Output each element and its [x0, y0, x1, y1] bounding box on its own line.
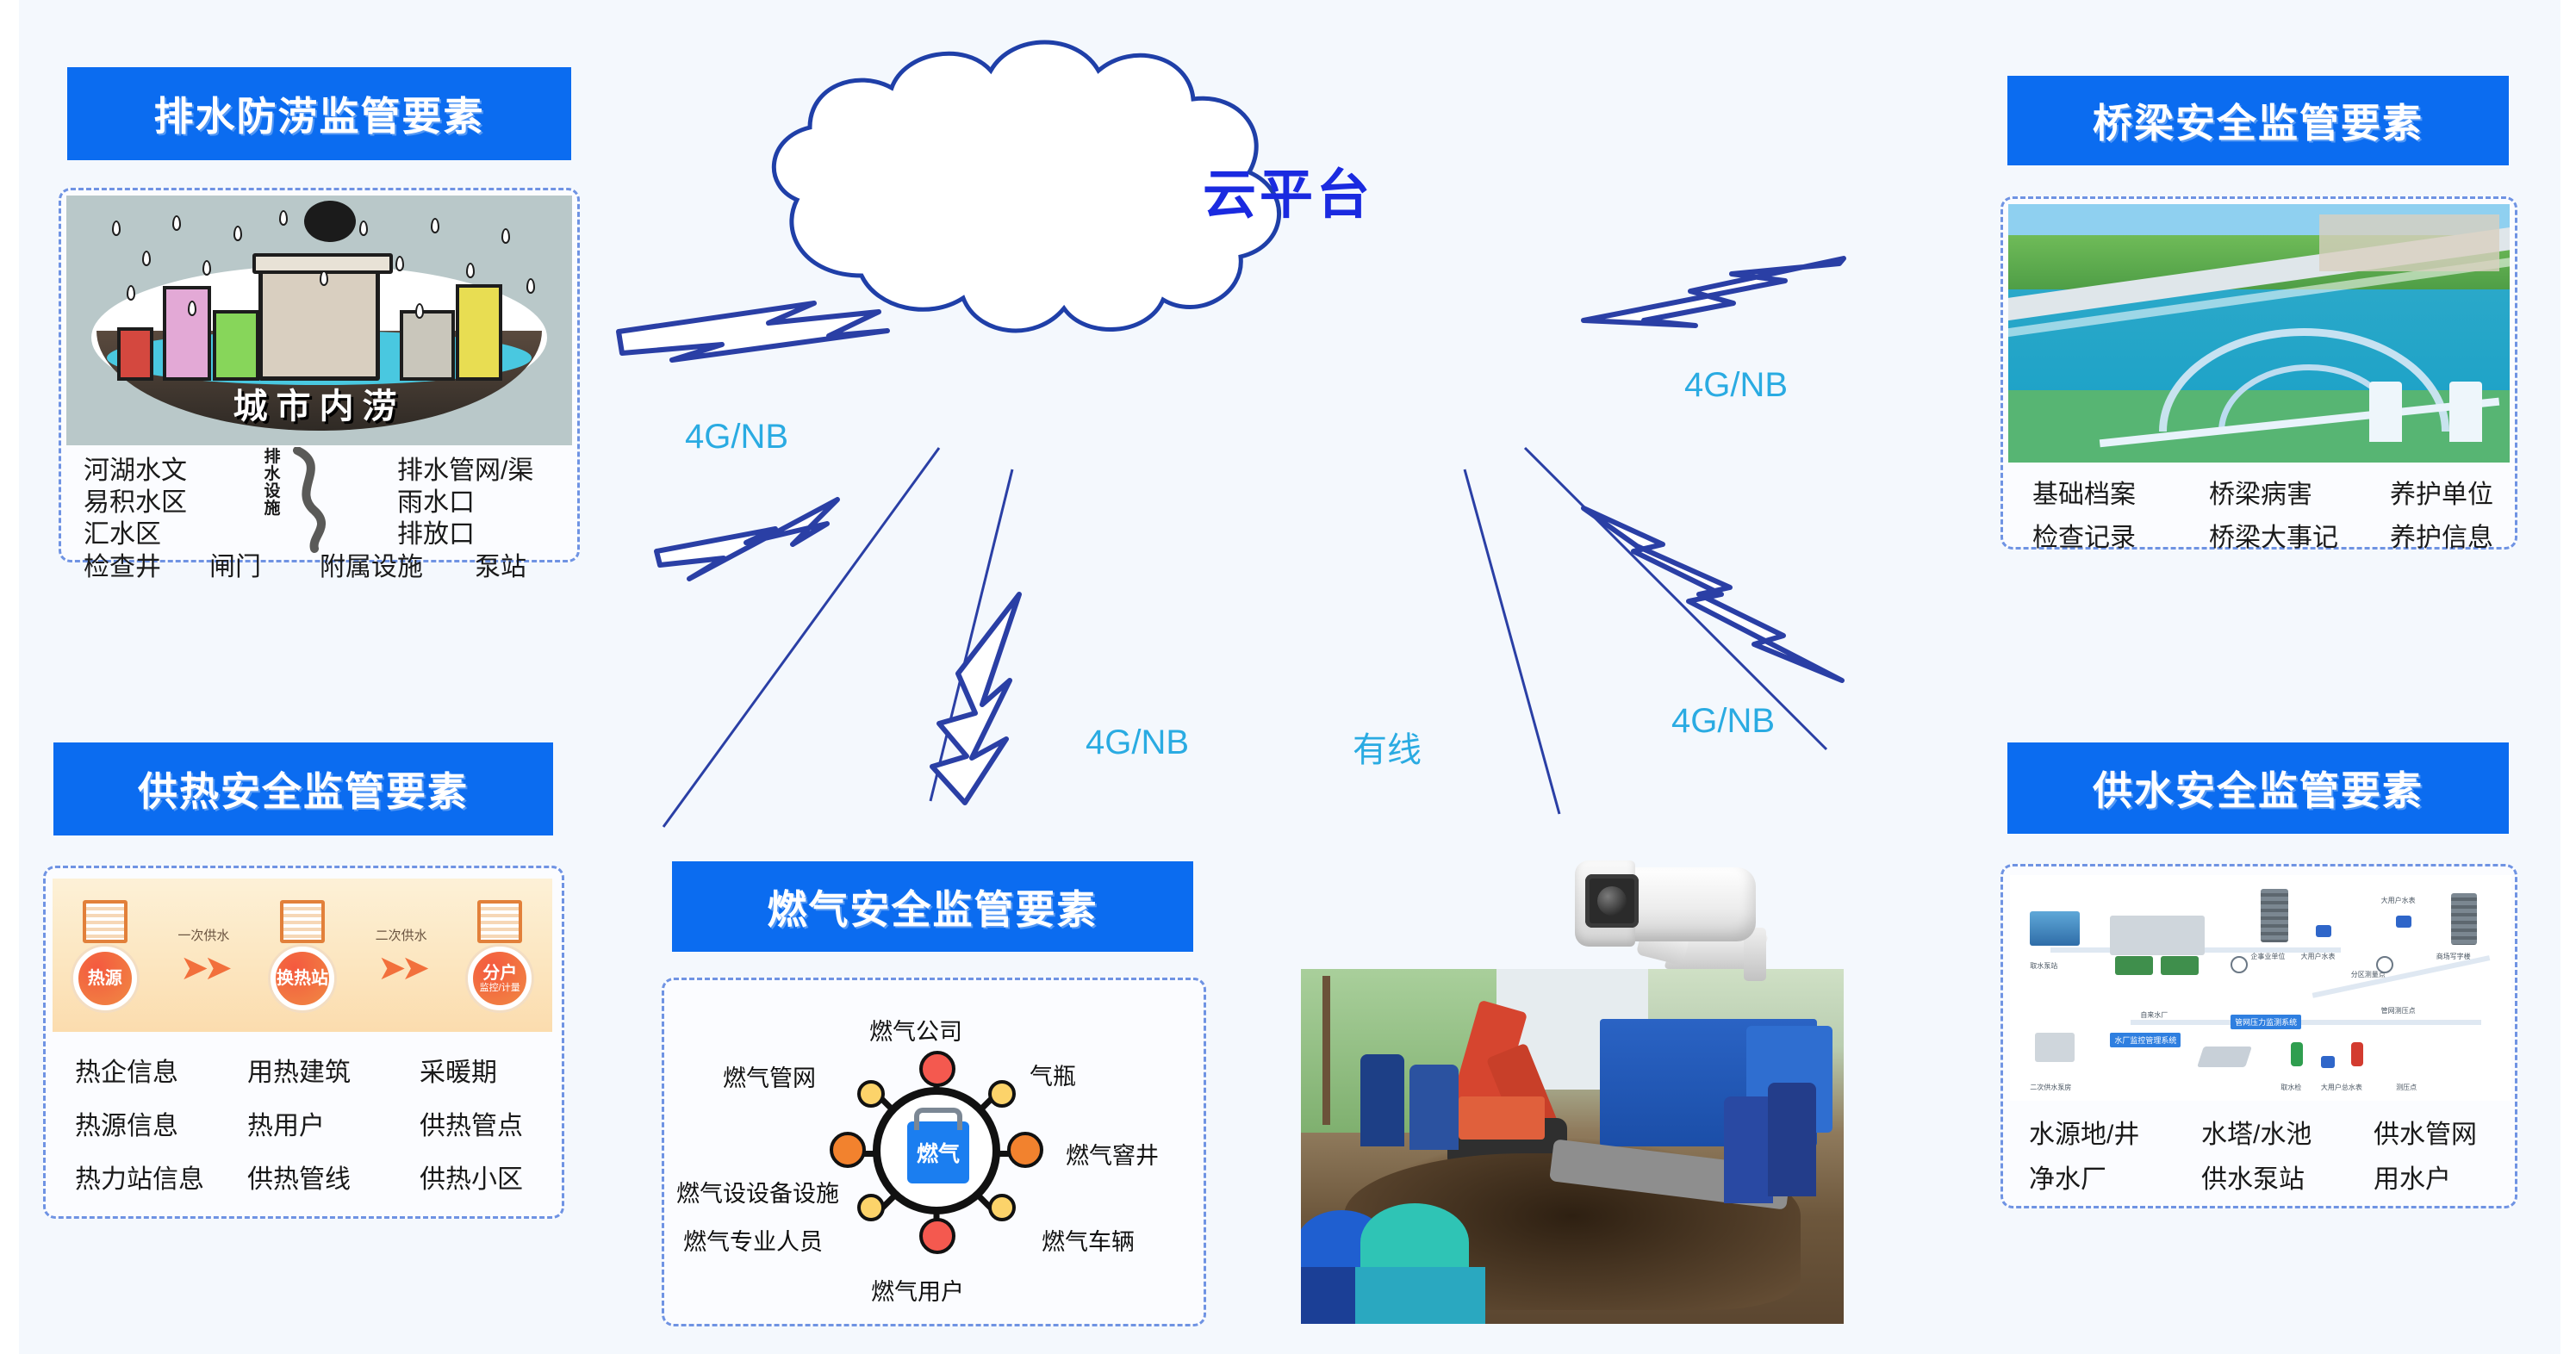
heat-node-station: 换热站	[271, 900, 334, 1010]
household-circle: 分户 监控/计量	[468, 947, 532, 1010]
meter-blue	[2321, 1056, 2335, 1068]
panel-bridge: 基础档案 桥梁病害 养护单位 检查记录 桥梁大事记 养护信息	[2000, 196, 2517, 550]
enterprise-building-icon	[2261, 889, 2288, 942]
sedimentation-basin-1	[2115, 956, 2153, 975]
heating-term-2-0: 热力站信息	[75, 1158, 247, 1211]
drainage-title-text: 排水防涝监管要素	[154, 85, 485, 142]
worker-right-1	[1724, 1096, 1773, 1203]
heat-arrow-primary: 一次供水 ➤➤	[177, 926, 229, 985]
sedimentation-basin-2	[2161, 956, 2199, 975]
storm-swirl-icon	[304, 201, 356, 242]
label-secondary-pumphouse: 二次供水泵房	[2030, 1083, 2071, 1092]
drainage-term-3: 雨水口	[397, 481, 411, 512]
gas-node-user	[919, 1218, 955, 1254]
water-supply-schematic: 取水泵站 自来水厂 水厂监控管理系统 管网压力监测系统 企事业单位 大用户水表 …	[2010, 875, 2511, 1101]
drainage-term-4: 汇水区	[84, 512, 256, 544]
link-label-camera: 有线	[1353, 722, 1422, 772]
water-term-0-2: 供水管网	[2374, 1113, 2498, 1158]
intake-pump-station-icon	[2030, 911, 2080, 946]
heat-source-label: 热源	[88, 969, 122, 988]
water-title-text: 供水安全监管要素	[2093, 760, 2424, 817]
panel-water: 取水泵站 自来水厂 水厂监控管理系统 管网压力监测系统 企事业单位 大用户水表 …	[2000, 864, 2517, 1208]
water-term-1-0: 净水厂	[2029, 1158, 2201, 1202]
gas-node-equipment	[830, 1132, 866, 1168]
panel-heating: 热源 一次供水 ➤➤ 换热站 二次供水 ➤➤ 分户	[43, 866, 564, 1219]
link-label-gas: 4G/NB	[1086, 724, 1189, 762]
heat-station-label: 换热站	[277, 969, 328, 988]
link-label-bridge: 4G/NB	[1684, 366, 1788, 405]
gas-node-cylinder	[988, 1080, 1016, 1108]
heating-term-1-2: 供热管点	[420, 1104, 544, 1158]
water-term-0-0: 水源地/井	[2029, 1113, 2201, 1158]
bridge-term-1-0: 检查记录	[2032, 516, 2209, 559]
bridge-term-1-2: 养护信息	[2390, 516, 2502, 559]
bridge-term-1-1: 桥梁大事记	[2209, 516, 2390, 559]
pressure-gauge-2	[2376, 956, 2393, 973]
diagram-canvas: 云平台 4G/NB 4G/NB 4G/NB 有线 4G/NB 排水防涝监管要素	[0, 0, 2576, 1354]
heat-station-building-icon	[280, 900, 325, 943]
water-term-1-2: 用水户	[2374, 1158, 2498, 1202]
excavator-body	[1459, 1096, 1546, 1139]
building-gray	[400, 310, 455, 381]
drainage-image-caption: 城市内涝	[66, 378, 572, 428]
heat-station-circle: 换热站	[271, 947, 334, 1010]
water-terms-grid: 水源地/井 水塔/水池 供水管网 净水厂 供水泵站 用水户	[2029, 1113, 2498, 1202]
heat-node-source: 热源	[73, 900, 137, 1010]
gas-label-company: 燃气公司	[869, 1013, 962, 1047]
worker-right-2	[1768, 1083, 1817, 1196]
gas-label-manhole: 燃气窨井	[1066, 1137, 1159, 1171]
drainage-term-1: 排水管网/渠	[397, 449, 411, 481]
label-enterprise: 企事业单位	[2250, 952, 2285, 961]
heat-node-household: 分户 监控/计量	[468, 900, 532, 1010]
pressure-gauge-1	[2231, 956, 2248, 973]
gas-node-pipeline	[857, 1080, 885, 1108]
cctv-camera-icon	[1559, 848, 1801, 995]
label-total-meter: 大用户总水表	[2321, 1083, 2362, 1092]
gas-label-pipeline: 燃气管网	[723, 1059, 816, 1093]
worker-left-2	[1409, 1065, 1459, 1150]
gas-node-vehicle	[988, 1194, 1016, 1221]
heating-term-0-1: 用热建筑	[247, 1051, 420, 1104]
tag-plant-monitoring: 水厂监控管理系统	[2110, 1033, 2181, 1047]
large-user-meter-1	[2316, 925, 2331, 937]
heating-flow-illustration: 热源 一次供水 ➤➤ 换热站 二次供水 ➤➤ 分户	[53, 879, 552, 1032]
section-title-water: 供水安全监管要素	[2007, 742, 2509, 834]
water-pipe-3	[2312, 956, 2490, 998]
bridge-term-0-2: 养护单位	[2390, 473, 2502, 516]
heating-term-2-1: 供热管线	[247, 1158, 420, 1211]
label-pressure-point: 管网测压点	[2381, 1006, 2416, 1015]
label-intake-station: 取水泵站	[2030, 961, 2057, 971]
heat-source-circle: 热源	[73, 947, 137, 1010]
bridge-term-0-0: 基础档案	[2032, 473, 2209, 516]
drainage-term-9: 泵站	[475, 545, 526, 583]
gas-node-manhole	[1007, 1132, 1043, 1168]
household-sub-label: 监控/计量	[480, 983, 520, 993]
heating-terms-grid: 热企信息 用热建筑 采暖期 热源信息 热用户 供热管点 热力站信息 供热管线 供…	[75, 1051, 544, 1211]
building-yellow	[456, 284, 502, 381]
heat-source-building-icon	[83, 900, 128, 943]
bridge-terms-grid: 基础档案 桥梁病害 养护单位 检查记录 桥梁大事记 养护信息	[2032, 473, 2502, 559]
label-mall: 商场写字楼	[2436, 952, 2471, 961]
large-user-meter-2	[2396, 916, 2411, 928]
label-intake-check: 取水检	[2280, 1083, 2301, 1092]
bridge-tower-left	[2369, 382, 2402, 442]
heating-title-text: 供热安全监管要素	[138, 761, 469, 817]
lightning-bolt-water	[1584, 508, 1842, 680]
gas-hub-diagram: 燃气 燃气公司 气瓶 燃气窨井 燃气车辆 燃气用户 燃气专业人员 燃气设设备设施…	[664, 980, 1209, 1329]
drainage-term-2: 易积水区	[84, 481, 256, 512]
gas-node-personnel	[857, 1194, 885, 1221]
drainage-term-8: 附属设施	[320, 545, 449, 583]
bridge-term-0-1: 桥梁病害	[2209, 473, 2390, 516]
waterworks-building-icon	[2110, 916, 2205, 955]
heating-term-2-2: 供热小区	[420, 1158, 544, 1211]
gas-node-company	[919, 1051, 955, 1087]
bridge-photo	[2008, 204, 2510, 463]
gas-label-vehicle: 燃气车辆	[1042, 1223, 1135, 1257]
heating-term-0-2: 采暖期	[420, 1051, 544, 1104]
drainage-term-0: 河湖水文	[84, 449, 256, 481]
drainage-terms-row-last: 检查井 闸门 附属设施 泵站	[84, 545, 575, 583]
link-label-drainage: 4G/NB	[685, 418, 788, 457]
mall-building-icon	[2451, 893, 2477, 945]
gas-label-user: 燃气用户	[871, 1273, 964, 1307]
gas-label-personnel: 燃气专业人员	[683, 1223, 823, 1257]
urban-area	[2319, 214, 2500, 271]
camera-lens	[1585, 874, 1639, 928]
drainage-terms-grid: 河湖水文 排水管网/渠 易积水区 雨水口 汇水区 排放口	[84, 449, 566, 544]
section-title-bridge: 桥梁安全监管要素	[2007, 76, 2509, 165]
drainage-illustration: 城市内涝	[66, 196, 572, 445]
chevron-right-icon: ➤➤	[177, 951, 229, 985]
gas-hub-label: 燃气	[917, 1137, 960, 1168]
bridge-tower-right	[2449, 382, 2482, 442]
label-large-meter-2: 大用户水表	[2381, 896, 2416, 905]
tag-pressure-monitoring: 管网压力监测系统	[2231, 1015, 2301, 1029]
reservoir-icon	[2197, 1047, 2252, 1067]
secondary-pumphouse-icon	[2035, 1033, 2075, 1062]
heat-arrow-secondary: 二次供水 ➤➤	[376, 926, 427, 985]
tree-trunk	[1322, 976, 1330, 1125]
worker-left-1	[1360, 1054, 1403, 1146]
label-waterworks: 自来水厂	[2140, 1010, 2168, 1020]
household-building-icon	[477, 900, 522, 943]
chevron-right-icon-2: ➤➤	[376, 951, 427, 985]
panel-gas: 燃气 燃气公司 气瓶 燃气窨井 燃气车辆 燃气用户 燃气专业人员 燃气设设备设施…	[662, 978, 1206, 1326]
heating-term-1-0: 热源信息	[75, 1104, 247, 1158]
building-red	[117, 327, 153, 381]
panel-drainage: 城市内涝 排水设施 河湖水文 排水管网/渠 易积水区 雨水口 汇水区 排放口 检…	[59, 188, 580, 562]
label-test-point: 测压点	[2396, 1083, 2417, 1092]
link-label-water: 4G/NB	[1671, 702, 1775, 741]
gas-canister-icon: 燃气	[907, 1121, 969, 1183]
water-term-0-1: 水塔/水池	[2201, 1113, 2374, 1158]
label-large-meter-1: 大用户水表	[2301, 952, 2336, 961]
lightning-bolt-heating	[656, 500, 837, 579]
heat-arrow-secondary-label: 二次供水	[376, 926, 427, 944]
heating-term-1-1: 热用户	[247, 1104, 420, 1158]
hydrant-green	[2291, 1042, 2303, 1066]
section-title-heating: 供热安全监管要素	[53, 742, 553, 835]
worker-fg-2-body	[1355, 1267, 1485, 1324]
drainage-term-5: 排放口	[397, 512, 411, 544]
section-title-gas: 燃气安全监管要素	[672, 861, 1193, 952]
pipeline-excavation-photo	[1301, 969, 1844, 1324]
heat-arrow-primary-label: 一次供水	[177, 926, 229, 944]
building-pink	[163, 286, 211, 381]
household-label: 分户	[482, 964, 517, 983]
lightning-bolt-gas	[932, 594, 1019, 803]
gas-label-cylinder: 气瓶	[1030, 1058, 1076, 1091]
bridge-title-text: 桥梁安全监管要素	[2093, 92, 2424, 149]
water-term-1-1: 供水泵站	[2201, 1158, 2374, 1202]
water-pipe-2	[2131, 1020, 2481, 1025]
hydrant-red	[2351, 1042, 2363, 1066]
section-title-drainage: 排水防涝监管要素	[67, 67, 571, 160]
lightning-bolt-bridge	[1584, 258, 1844, 326]
gas-label-equipment: 燃气设设备设施	[676, 1175, 839, 1208]
drainage-term-6: 检查井	[84, 545, 184, 583]
drainage-term-7: 闸门	[209, 545, 294, 583]
gas-title-text: 燃气安全监管要素	[768, 879, 1098, 935]
heating-term-0-0: 热企信息	[75, 1051, 247, 1104]
lightning-bolt-drainage	[619, 303, 887, 360]
building-green	[213, 310, 259, 381]
